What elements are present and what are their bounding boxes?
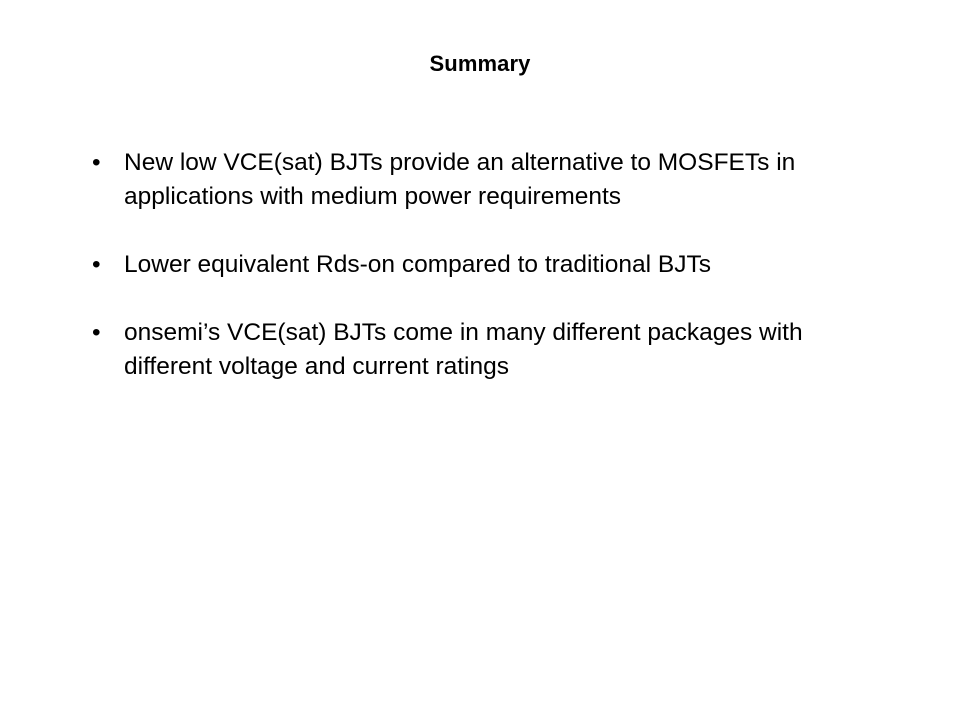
list-item-text: onsemi’s VCE(sat) BJTs come in many diff… xyxy=(124,316,879,384)
list-item-text: Lower equivalent Rds-on compared to trad… xyxy=(124,248,884,282)
list-item: • Lower equivalent Rds-on compared to tr… xyxy=(88,248,884,282)
list-item: • New low VCE(sat) BJTs provide an alter… xyxy=(88,146,884,214)
slide: Summary • New low VCE(sat) BJTs provide … xyxy=(0,0,960,720)
list-item: • onsemi’s VCE(sat) BJTs come in many di… xyxy=(88,316,879,384)
bullet-point-icon: • xyxy=(92,316,106,350)
bullet-point-icon: • xyxy=(92,146,106,180)
page-title: Summary xyxy=(0,50,960,78)
bullet-list: • New low VCE(sat) BJTs provide an alter… xyxy=(88,146,888,384)
bullet-point-icon: • xyxy=(92,248,106,282)
list-item-text: New low VCE(sat) BJTs provide an alterna… xyxy=(124,146,884,214)
